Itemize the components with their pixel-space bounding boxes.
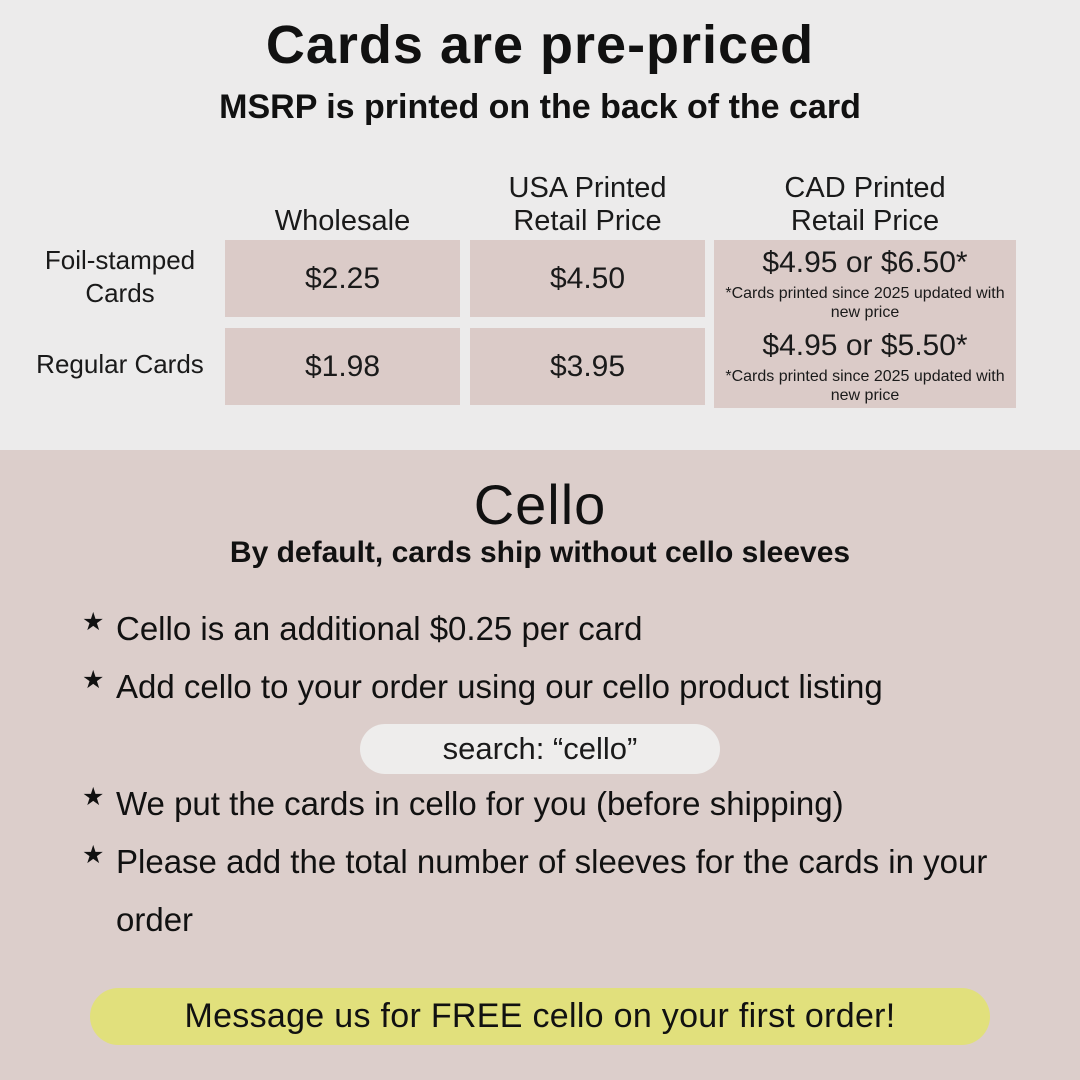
cell-regular-cad-retail-price: $4.95 or $5.50* bbox=[762, 327, 967, 365]
cell-regular-usa-retail-price: $3.95 bbox=[550, 348, 625, 386]
cell-foil-usa-retail: $4.50 bbox=[470, 240, 705, 317]
cell-foil-wholesale: $2.25 bbox=[225, 240, 460, 317]
row-label-regular-cards: Regular Cards bbox=[20, 348, 220, 381]
cell-foil-wholesale-price: $2.25 bbox=[305, 260, 380, 298]
star-bullet-icon: ★ bbox=[82, 600, 116, 644]
star-bullet-icon: ★ bbox=[82, 833, 116, 877]
list-item: ★ Cello is an additional $0.25 per card bbox=[82, 600, 1022, 658]
cell-foil-cad-retail-note: *Cards printed since 2025 updated with n… bbox=[714, 284, 1016, 322]
list-item: ★ Add cello to your order using our cell… bbox=[82, 658, 1022, 716]
column-header-usa-retail: USA Printed Retail Price bbox=[470, 172, 705, 238]
page-title: Cards are pre-priced bbox=[0, 14, 1080, 76]
cell-foil-usa-retail-price: $4.50 bbox=[550, 260, 625, 298]
column-header-cad-retail-line1: CAD Printed bbox=[714, 172, 1016, 205]
cell-regular-cad-retail: $4.95 or $5.50* *Cards printed since 202… bbox=[714, 323, 1016, 408]
column-header-cad-retail-line2: Retail Price bbox=[714, 205, 1016, 238]
infographic-page: Cards are pre-priced MSRP is printed on … bbox=[0, 0, 1080, 1080]
column-header-usa-retail-line2: Retail Price bbox=[470, 205, 705, 238]
cell-regular-usa-retail: $3.95 bbox=[470, 328, 705, 405]
cell-foil-cad-retail-price: $4.95 or $6.50* bbox=[762, 244, 967, 282]
cello-title: Cello bbox=[0, 472, 1080, 537]
list-item: ★ We put the cards in cello for you (bef… bbox=[82, 775, 1022, 833]
cello-subtitle: By default, cards ship without cello sle… bbox=[0, 536, 1080, 570]
star-bullet-icon: ★ bbox=[82, 658, 116, 702]
column-header-wholesale: Wholesale bbox=[225, 205, 460, 238]
row-label-foil-stamped-cards: Foil-stamped Cards bbox=[20, 244, 220, 310]
list-item-label: We put the cards in cello for you (befor… bbox=[116, 775, 844, 833]
cell-regular-cad-retail-note: *Cards printed since 2025 updated with n… bbox=[714, 367, 1016, 405]
page-subtitle: MSRP is printed on the back of the card bbox=[0, 88, 1080, 127]
pricing-table: Wholesale USA Printed Retail Price CAD P… bbox=[0, 160, 1080, 410]
cell-regular-wholesale-price: $1.98 bbox=[305, 348, 380, 386]
column-header-wholesale-line1: Wholesale bbox=[225, 205, 460, 238]
row-label-regular-line1: Regular Cards bbox=[20, 348, 220, 381]
row-label-foil-line1: Foil-stamped bbox=[20, 244, 220, 277]
list-item-label: Add cello to your order using our cello … bbox=[116, 658, 883, 716]
cell-foil-cad-retail: $4.95 or $6.50* *Cards printed since 202… bbox=[714, 240, 1016, 325]
list-item: ★ Please add the total number of sleeves… bbox=[82, 833, 1022, 949]
star-bullet-icon: ★ bbox=[82, 775, 116, 819]
column-header-cad-retail: CAD Printed Retail Price bbox=[714, 172, 1016, 238]
pricing-section: Cards are pre-priced MSRP is printed on … bbox=[0, 0, 1080, 450]
cell-regular-wholesale: $1.98 bbox=[225, 328, 460, 405]
list-item-label: Cello is an additional $0.25 per card bbox=[116, 600, 643, 658]
row-label-foil-line2: Cards bbox=[20, 277, 220, 310]
search-hint-pill[interactable]: search: “cello” bbox=[360, 724, 720, 774]
column-header-usa-retail-line1: USA Printed bbox=[470, 172, 705, 205]
list-item-label: Please add the total number of sleeves f… bbox=[116, 833, 1022, 949]
free-cello-cta-banner[interactable]: Message us for FREE cello on your first … bbox=[90, 988, 990, 1045]
